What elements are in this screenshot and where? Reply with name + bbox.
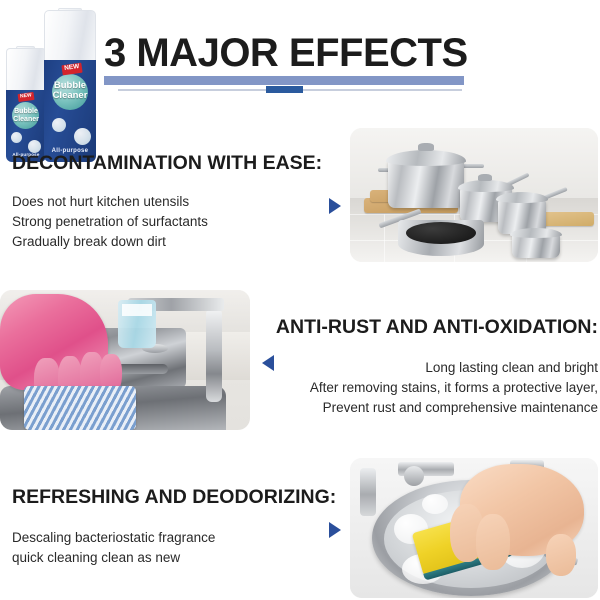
new-badge: NEW: [61, 63, 82, 76]
tap-body: [360, 468, 376, 516]
soap-suds: [422, 494, 448, 514]
pot-lid: [496, 192, 548, 203]
product-bottle-small: NEW Bubble Cleaner All-purpose: [6, 48, 46, 162]
bottle-brand-line1: Bubble: [14, 108, 38, 115]
arrow-left-icon: [262, 355, 274, 371]
bubble-dot-icon: [74, 128, 91, 145]
lid-knob: [418, 143, 434, 151]
infographic-page: 3 MAJOR EFFECTS NEW Bubble Cleaner All-p…: [0, 0, 600, 600]
cookware-photo: [350, 128, 598, 262]
section-body-line: Long lasting clean and bright: [262, 358, 598, 378]
pan-surface: [406, 222, 476, 244]
stock-pot: [388, 160, 464, 208]
section-body-line: Prevent rust and comprehensive maintenan…: [262, 398, 598, 418]
tap-knob: [404, 466, 424, 486]
hand-finger: [476, 514, 510, 570]
cleaning-cloth: [24, 386, 136, 430]
product-bottle-large: NEW Bubble Cleaner All-purpose: [44, 10, 96, 162]
section-body-line: quick cleaning clean as new: [12, 548, 342, 568]
bottle-footer-text: All-purpose: [44, 148, 96, 154]
bottle-brand-line2: Cleaner: [13, 116, 39, 123]
faucet-body: [206, 308, 222, 402]
pot-lid: [510, 228, 562, 238]
section-heading: REFRESHING AND DEODORIZING:: [12, 488, 342, 508]
bottle-brand-name: Bubble Cleaner: [44, 81, 96, 102]
soap-bottle-label: [122, 304, 152, 316]
section-body-line: Does not hurt kitchen utensils: [12, 192, 342, 212]
pot-handle: [462, 164, 484, 168]
bottle-footer-text: All-purpose: [6, 152, 46, 157]
pot-lid: [386, 150, 466, 166]
bottle-brand-name: Bubble Cleaner: [6, 108, 46, 123]
product-bottles: NEW Bubble Cleaner All-purpose NEW Bubbl…: [2, 4, 102, 164]
section-heading: DECONTAMINATION WITH EASE:: [12, 154, 342, 174]
bottle-label: NEW Bubble Cleaner All-purpose: [6, 90, 46, 162]
pot-lid: [458, 180, 514, 192]
arrow-right-icon: [329, 522, 341, 538]
section-body-line: Strong penetration of surfactants: [12, 212, 342, 232]
section-anti-rust: ANTI-RUST AND ANTI-OXIDATION: Long lasti…: [262, 318, 598, 418]
title-accent-bar: [104, 76, 464, 85]
title-rule-marker: [266, 86, 303, 93]
bottle-label: NEW Bubble Cleaner All-purpose: [44, 60, 96, 162]
section-body-line: After removing stains, it forms a protec…: [262, 378, 598, 398]
bottle-brand-line2: Cleaner: [53, 90, 88, 101]
section-decontamination: DECONTAMINATION WITH EASE: Does not hurt…: [12, 154, 342, 252]
sponge-pot-photo: [350, 458, 598, 598]
bubble-dot-icon: [11, 132, 22, 143]
glove-sink-photo: [0, 290, 250, 430]
section-body-line: Gradually break down dirt: [12, 232, 342, 252]
arrow-right-icon: [329, 198, 341, 214]
hand-thumb: [546, 534, 576, 576]
section-body-line: Descaling bacteriostatic fragrance: [12, 528, 342, 548]
page-title: 3 MAJOR EFFECTS: [104, 33, 468, 73]
bubble-dot-icon: [52, 118, 66, 132]
section-heading: ANTI-RUST AND ANTI-OXIDATION:: [262, 318, 598, 338]
section-refreshing: REFRESHING AND DEODORIZING: Descaling ba…: [12, 488, 342, 568]
new-badge: NEW: [18, 92, 35, 102]
lid-knob: [478, 174, 492, 181]
